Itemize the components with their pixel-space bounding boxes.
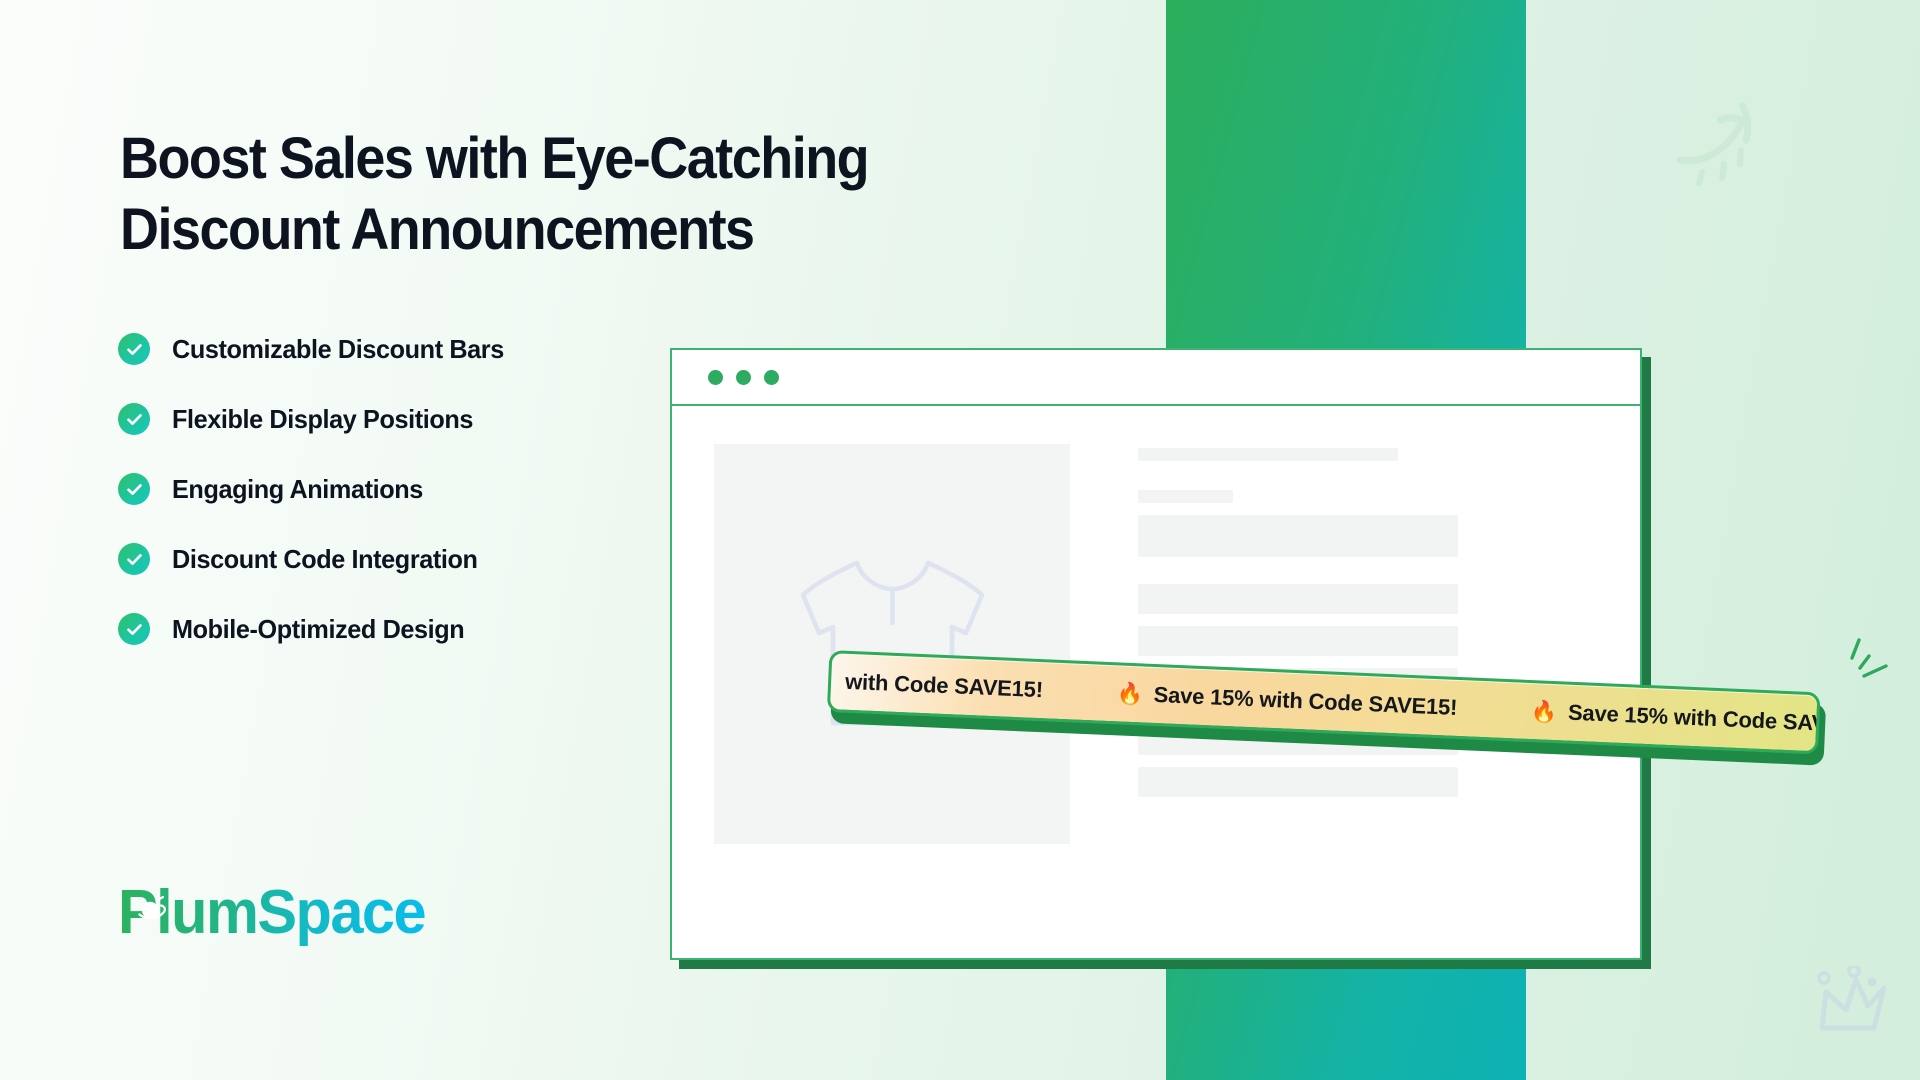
feature-list: Customizable Discount Bars Flexible Disp… bbox=[118, 330, 738, 680]
check-circle-icon bbox=[118, 403, 150, 435]
feature-label: Flexible Display Positions bbox=[172, 404, 473, 435]
feature-label: Mobile-Optimized Design bbox=[172, 614, 464, 645]
left-content-panel: Boost Sales with Eye-Catching Discount A… bbox=[0, 0, 680, 1080]
feature-item-customizable-discount-bars: Customizable Discount Bars bbox=[118, 330, 738, 368]
browser-mockup bbox=[670, 348, 1642, 960]
check-circle-icon bbox=[118, 613, 150, 645]
brand-logo: PlumSpace bbox=[118, 872, 438, 952]
ticker-item: with Code SAVE15! bbox=[845, 669, 1044, 703]
feature-label: Engaging Animations bbox=[172, 474, 423, 505]
product-image-placeholder bbox=[714, 444, 1070, 844]
window-dot-icon[interactable] bbox=[736, 370, 751, 385]
check-circle-icon bbox=[118, 333, 150, 365]
feature-item-discount-code-integration: Discount Code Integration bbox=[118, 540, 738, 578]
ticker-text: with Code SAVE15! bbox=[845, 669, 1044, 703]
planet-icon bbox=[134, 892, 168, 926]
skeleton-line bbox=[1138, 626, 1458, 656]
window-dot-icon[interactable] bbox=[764, 370, 779, 385]
ticker-item: 🔥 Save 15% with Code SAVE15! bbox=[1116, 680, 1457, 721]
fire-icon: 🔥 bbox=[1116, 683, 1143, 705]
skeleton-line bbox=[1138, 490, 1233, 503]
skeleton-line bbox=[1138, 515, 1458, 557]
feature-item-flexible-display-positions: Flexible Display Positions bbox=[118, 400, 738, 438]
browser-title-bar bbox=[672, 350, 1640, 406]
feature-item-mobile-optimized-design: Mobile-Optimized Design bbox=[118, 610, 738, 648]
feature-label: Customizable Discount Bars bbox=[172, 334, 504, 365]
fire-icon: 🔥 bbox=[1531, 701, 1558, 723]
feature-item-engaging-animations: Engaging Animations bbox=[118, 470, 738, 508]
window-dot-icon[interactable] bbox=[708, 370, 723, 385]
ticker-item: 🔥 Save 15% with Code SAVE15! bbox=[1531, 698, 1821, 739]
ticker-text: Save 15% with Code SAVE15! bbox=[1153, 682, 1458, 721]
page-title: Boost Sales with Eye-Catching Discount A… bbox=[120, 124, 1004, 266]
crown-icon bbox=[1800, 966, 1910, 1062]
skeleton-line bbox=[1138, 767, 1458, 797]
skeleton-line bbox=[1138, 448, 1398, 461]
ticker-text: Save 15% with Code SAVE15! bbox=[1567, 700, 1820, 739]
check-circle-icon bbox=[118, 543, 150, 575]
sparkle-lines-icon bbox=[1838, 628, 1908, 698]
growth-arrow-icon bbox=[1674, 88, 1784, 188]
feature-label: Discount Code Integration bbox=[172, 544, 478, 575]
skeleton-line bbox=[1138, 584, 1458, 614]
check-circle-icon bbox=[118, 473, 150, 505]
